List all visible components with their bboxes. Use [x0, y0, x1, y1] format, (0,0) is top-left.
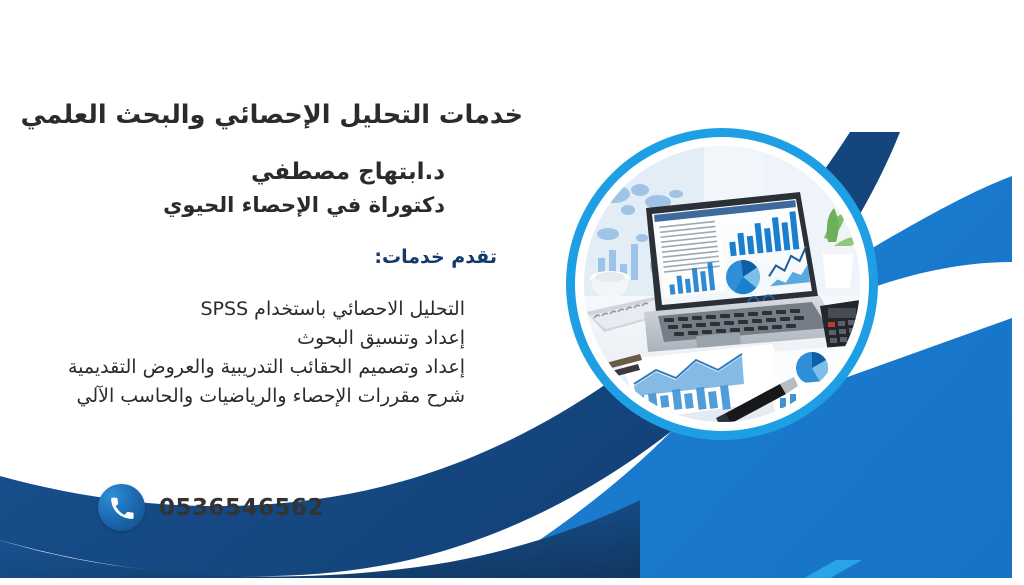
list-item: شرح مقررات الإحصاء والرياضيات والحاسب ال…	[5, 382, 465, 411]
list-item: التحليل الاحصائي باستخدام SPSS	[5, 295, 465, 324]
list-item: إعداد وتصميم الحقائب التدريبية والعروض ا…	[5, 353, 465, 382]
photo-ring	[566, 128, 878, 440]
page-title: خدمات التحليل الإحصائي والبحث العلمي	[23, 100, 523, 131]
phone-number[interactable]: 0536546562	[159, 495, 324, 521]
doctor-name: د.ابتهاج مصطفي	[25, 158, 445, 187]
laptop-screen-spreadsheet	[657, 217, 726, 297]
list-item: إعداد وتنسيق البحوث	[5, 324, 465, 353]
services-heading: تقدم خدمات:	[374, 246, 497, 268]
photo-ring-inner-white	[575, 137, 869, 431]
right-white-margin	[1012, 0, 1024, 585]
flyer-card: خدمات التحليل الإحصائي والبحث العلمي د.ا…	[0, 0, 1024, 585]
phone-handset-icon[interactable]	[98, 484, 145, 531]
services-list: التحليل الاحصائي باستخدام SPSS إعداد وتن…	[5, 295, 465, 411]
photo-statistics-desk	[584, 146, 860, 422]
contact-phone-row[interactable]: 0536546562	[98, 484, 324, 531]
photo-illustration	[584, 146, 860, 422]
doctor-credential: دكتوراة في الإحصاء الحيوي	[25, 192, 445, 218]
